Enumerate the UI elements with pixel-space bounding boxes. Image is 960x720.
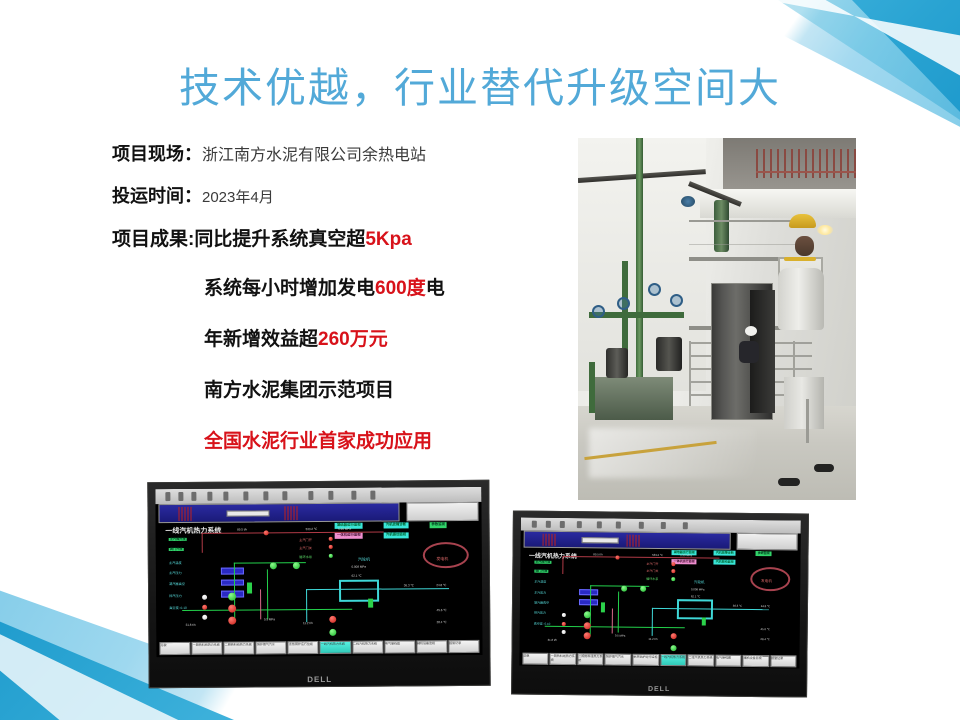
- hmi2-device-generator: 发电机: [761, 579, 772, 584]
- hmi-reading-5: 36.3 ℃: [404, 583, 414, 587]
- hmi2-input-box-2[interactable]: [579, 600, 599, 606]
- hmi2-reading-7: 0.5 MPa: [615, 634, 625, 638]
- hmi2-toolbar-icon-save[interactable]: [560, 521, 565, 529]
- hmi-reading-11: 28.4 ℃: [437, 620, 447, 624]
- hmi-toolbar-icon-save[interactable]: [191, 492, 196, 500]
- hmi-legend-1: 主汽门关: [299, 545, 312, 550]
- highlight-vacuum-value: 5Kpa: [365, 229, 411, 250]
- photo-worker-squatting-helmet: [745, 326, 757, 336]
- hmi-left-label-0: 主汽阀开度: [169, 538, 187, 541]
- hmi-input-box-1[interactable]: [221, 567, 244, 574]
- hmi2-device-turbine: 汽轮机: [694, 580, 705, 585]
- hmi-tab-9[interactable]: 报警记录: [448, 640, 479, 654]
- hmi2-valve-open-1[interactable]: [562, 613, 566, 617]
- hmi2-tab-3[interactable]: 锅炉烟气汽水: [605, 653, 632, 665]
- hmi2-pipe-steam-main: [562, 556, 719, 559]
- hmi2-level-bar-2: [702, 617, 706, 625]
- text-row-annual-benefit: 年新增效益超260万元: [204, 324, 582, 351]
- hmi2-toolbar-icon-back-arrow[interactable]: [616, 521, 621, 529]
- hmi2-legend-dot-green-1: [671, 577, 675, 581]
- hmi-addressbar-2[interactable]: [523, 531, 730, 549]
- hmi-toolbar-icon-settings[interactable]: [371, 491, 376, 499]
- hmi-left-label-2: 主汽温度: [169, 560, 182, 565]
- hmi-legend-2: 循环水泵: [299, 554, 312, 559]
- photo-handwheel-4: [670, 294, 683, 307]
- hmi2-left-label-3: 主汽压力: [534, 590, 546, 594]
- photo-worker-standing-head: [795, 236, 814, 256]
- hmi-toolbar-icon-copy[interactable]: [224, 492, 229, 500]
- hmi-status-tag-1[interactable]: 汽机故障诊断: [384, 523, 408, 529]
- value-first-application: 全国水泥行业首家成功应用: [204, 431, 432, 452]
- hmi-tab-0[interactable]: 总貌: [160, 642, 191, 656]
- hmi-canvas-1: 一线汽机热力系统 凝结器运行监视 汽机故障诊断 参数监视 一体机运行监视 汽机振…: [155, 487, 482, 657]
- hmi2-reading-3: 0.008 MPa: [691, 587, 705, 591]
- hmi-toolbar-icon-home[interactable]: [351, 491, 356, 499]
- plant-site-photo: [578, 138, 856, 500]
- hmi2-reading-11: 28.4 ℃: [760, 637, 769, 641]
- photo-handwheel-3: [648, 283, 661, 296]
- photo-worker-shoe-right: [814, 464, 834, 472]
- hmi-legend-0: 主汽门开: [299, 537, 312, 542]
- hmi2-pump-stopped-3[interactable]: [671, 633, 677, 639]
- text-row-power-gain: 系统每小时增加发电600度电: [204, 273, 582, 300]
- hmi-status-tag-3[interactable]: 一体机运行监视: [335, 533, 363, 539]
- hmi-tabbar-1[interactable]: 总貌 一期熟料线热力系统 二期熟料线热力系统 锅炉烟气汽水 余热锅炉运行监视 一…: [160, 640, 480, 656]
- text-row-commission-date: 投运时间：2023年4月: [112, 182, 582, 208]
- hmi-left-label-3: 主汽压力: [169, 570, 182, 575]
- value-power-gain: 系统每小时增加发电: [204, 278, 375, 299]
- hmi-pump-stopped-3[interactable]: [329, 616, 336, 623]
- text-row-results-vacuum: 项目成果:同比提升系统真空超5Kpa: [112, 224, 582, 251]
- hmi2-indicator-green-2[interactable]: [641, 585, 647, 591]
- hmi2-pipe-cooling-drop: [651, 608, 652, 636]
- hmi2-legend-0: 主汽门开: [646, 562, 658, 566]
- hmi-tab-2[interactable]: 二期熟料线热力系统: [224, 641, 255, 655]
- photo-worker-standing-torso: [778, 268, 824, 330]
- label-project-site: 项目现场：: [112, 144, 202, 164]
- scada-monitor-photo-2: 一线汽机热力系统 凝结器运行监视 汽机故障诊断 参数监视 一体机运行监视 汽机振…: [511, 510, 809, 697]
- hmi-clock-panel-1: [406, 502, 478, 521]
- hmi-pump-stopped-2[interactable]: [228, 616, 236, 624]
- hmi-address-input-1[interactable]: [227, 510, 270, 517]
- hmi2-tab-4[interactable]: 余热锅炉运行监视: [632, 653, 659, 665]
- hmi2-tab-0[interactable]: 总貌: [522, 652, 549, 664]
- hmi-toolbar-icon-paste[interactable]: [243, 492, 248, 500]
- hmi-reading-10: 45.6 ℃: [437, 608, 447, 612]
- hmi2-level-bar-1: [601, 603, 605, 613]
- hmi-clock-panel-2: [736, 533, 798, 550]
- value-annual-benefit: 年新增效益超: [204, 329, 318, 350]
- hmi-address-input-2[interactable]: [582, 537, 619, 543]
- hmi2-left-label-1: 调门开度: [534, 569, 548, 572]
- hmi-legend-dot-red-2: [328, 545, 332, 549]
- photo-worker-squatting-body: [739, 341, 759, 363]
- hmi-valve-main-steam[interactable]: [263, 530, 268, 535]
- hmi-toolbar-icon-print[interactable]: [208, 492, 213, 500]
- hmi-legend-dot-red-1: [328, 537, 332, 541]
- hmi2-tab-5[interactable]: 一线汽机热力系统: [660, 654, 687, 666]
- hmi-tab-6[interactable]: 二线汽机热力系统: [352, 640, 383, 654]
- hmi-pipe-feed: [267, 569, 268, 619]
- hmi-marquee-alarm-left: [179, 507, 193, 520]
- hmi-valve-open-1[interactable]: [202, 595, 207, 600]
- text-row-first-application: 全国水泥行业首家成功应用: [204, 426, 582, 453]
- hmi-pump-running-2[interactable]: [329, 629, 336, 636]
- hmi2-marquee-alarm-right: [627, 535, 639, 547]
- photo-upper-railing: [756, 149, 856, 178]
- hmi-reading-1: 533.2 ℃: [306, 527, 318, 531]
- hmi-tab-8[interactable]: 辅机设备监视: [416, 640, 447, 654]
- hmi2-status-tag-1[interactable]: 汽机故障诊断: [714, 551, 736, 556]
- hmi-pipe-drain: [260, 589, 261, 619]
- hmi2-reading-1: 533.2 ℃: [652, 553, 663, 557]
- hmi-reading-6: 24.8 ℃: [436, 583, 446, 587]
- hmi2-valve-open-2[interactable]: [562, 630, 566, 634]
- hmi2-toolbar-icon-forward-arrow[interactable]: [638, 522, 643, 530]
- photo-valve-upper: [681, 196, 695, 207]
- hmi2-reading-9: 31.8 t/h: [548, 638, 557, 642]
- hmi-level-bar-1: [247, 583, 252, 594]
- monitor-2-screen: 一线汽机热力系统 凝结器运行监视 汽机故障诊断 参数监视 一体机运行监视 汽机振…: [519, 518, 801, 669]
- hmi-device-generator: 发电机: [436, 556, 448, 562]
- hmi-tab-4[interactable]: 余热锅炉运行监视: [288, 641, 319, 655]
- value-results-vacuum: 同比提升系统真空超: [194, 229, 365, 250]
- hmi2-pipe-cond-riser: [590, 585, 592, 637]
- hmi-toolbar-icon-back-arrow[interactable]: [263, 492, 268, 500]
- photo-pump-b: [656, 337, 682, 371]
- photo-worker-standing-legs: [784, 377, 824, 429]
- hmi2-toolbar-icon-open[interactable]: [546, 521, 551, 529]
- hmi-indicator-green-2[interactable]: [293, 562, 300, 569]
- hmi-reading-7: 0.5 MPa: [264, 618, 275, 622]
- hmi-toolbar-icon-open[interactable]: [178, 492, 183, 500]
- value-demo-project: 南方水泥集团示范项目: [204, 380, 394, 401]
- hmi2-pump-stopped-2[interactable]: [584, 632, 591, 639]
- hmi-toolbar-icon-stop[interactable]: [309, 491, 314, 499]
- hmi2-toolbar-icon-copy[interactable]: [596, 521, 601, 529]
- hmi-reading-8: 11.2 t/h: [303, 621, 313, 625]
- hmi2-pipe-steam-branch: [562, 556, 563, 574]
- hmi2-toolbar-icon-new[interactable]: [532, 521, 537, 529]
- hmi2-legend-dot-red-2: [672, 569, 676, 573]
- hmi-status-tag-2[interactable]: 参数监视: [429, 522, 447, 528]
- hmi-valve-open-2[interactable]: [202, 615, 207, 620]
- hmi-reading-3: 0.008 MPa: [351, 565, 366, 569]
- hmi-level-bar-2: [368, 598, 373, 607]
- hmi2-left-label-5: 排汽压力: [534, 611, 546, 615]
- photo-ceiling-lamp: [817, 225, 833, 235]
- hmi-tab-1[interactable]: 一期熟料线热力系统: [192, 642, 223, 656]
- hmi-reading-4: 62.1 ℃: [352, 573, 362, 577]
- hmi-addressbar-1[interactable]: [159, 503, 400, 523]
- hmi-marquee-alarm-right: [284, 507, 298, 520]
- hmi2-toolbar-icon-refresh[interactable]: [661, 522, 666, 530]
- hmi-left-label-1: 调门开度: [169, 548, 184, 551]
- monitor-1-screen: 一线汽机热力系统 凝结器运行监视 汽机故障诊断 参数监视 一体机运行监视 汽机振…: [155, 487, 482, 657]
- hmi2-valve-main-steam[interactable]: [616, 556, 620, 560]
- hmi-tab-3[interactable]: 锅炉烟气汽水: [256, 641, 287, 655]
- photo-pump-a: [606, 348, 628, 378]
- text-row-project-site: 项目现场：浙江南方水泥有限公司余热电站: [112, 140, 582, 166]
- hmi-screen-title-1: 一线汽机热力系统: [165, 526, 221, 536]
- highlight-benefit-value: 260万元: [318, 329, 388, 350]
- photo-pump-skid: [595, 377, 673, 420]
- hmi-tabbar-2[interactable]: 总貌 一期熟料线热力系统 二期熟料线热力系统 锅炉烟气汽水 余热锅炉运行监视 一…: [522, 652, 796, 667]
- hmi2-tab-6[interactable]: 二线汽机热力系统: [687, 654, 714, 666]
- photo-handwheel-1: [592, 305, 605, 318]
- hmi2-reading-8: 11.2 t/h: [648, 637, 657, 641]
- hmi2-reading-5: 36.3 ℃: [733, 604, 742, 608]
- hmi2-marquee-alarm-left: [543, 534, 555, 546]
- hmi2-pump-running-2[interactable]: [671, 645, 677, 651]
- hmi2-tab-8[interactable]: 辅机设备监视: [743, 655, 770, 667]
- hmi-device-turbine: 汽轮机: [358, 557, 370, 563]
- hmi2-left-label-4: 凝汽器真空: [534, 601, 549, 605]
- hmi-pump-running-1[interactable]: [228, 593, 236, 601]
- hmi2-toolbar-icon-home[interactable]: [683, 522, 688, 530]
- hmi-reading-9: 31.8 t/h: [186, 623, 196, 627]
- scada-monitor-photo-1: 一线汽机热力系统 凝结器运行监视 汽机故障诊断 参数监视 一体机运行监视 汽机振…: [147, 480, 490, 688]
- hmi2-toolbar-icon-print[interactable]: [577, 521, 582, 529]
- photo-upper-railing-bar: [756, 171, 856, 173]
- hmi-pump-stopped-1[interactable]: [228, 604, 236, 612]
- photo-worker-standing-leg-split: [806, 399, 809, 443]
- hmi2-legend-2: 循环水泵: [646, 577, 658, 581]
- value-project-site: 浙江南方水泥有限公司余热电站: [202, 147, 426, 164]
- hmi-reading-0: 89.5 t/h: [237, 527, 247, 531]
- hmi2-reading-10: 45.6 ℃: [761, 627, 770, 631]
- hmi-tab-5[interactable]: 一线汽机热力系统: [320, 641, 351, 655]
- hmi2-valve-closed-1[interactable]: [562, 622, 566, 626]
- hmi2-left-label-2: 主汽温度: [534, 580, 546, 584]
- hmi-toolbar-icon-refresh[interactable]: [328, 491, 333, 499]
- hmi2-tab-9[interactable]: 报警记录: [770, 655, 797, 667]
- hmi2-reading-4: 62.1 ℃: [691, 595, 700, 599]
- hmi2-tab-7[interactable]: 电气接线图: [715, 654, 742, 666]
- hmi2-reading-6: 24.8 ℃: [761, 604, 770, 608]
- hmi2-left-label-0: 主汽阀开度: [534, 561, 551, 564]
- photo-worker-hardhat-brim: [784, 257, 816, 261]
- text-row-demo-project: 南方水泥集团示范项目: [204, 375, 582, 402]
- highlight-power-value: 600度: [375, 278, 426, 299]
- hmi-screen-title-2: 一线汽机热力系统: [529, 550, 577, 560]
- label-commission-date: 投运时间：: [112, 186, 202, 206]
- hmi2-reading-0: 89.5 t/h: [593, 552, 602, 556]
- slide-root: 技术优越，行业替代升级空间大 项目现场：浙江南方水泥有限公司余热电站 投运时间：…: [0, 0, 960, 720]
- label-results: 项目成果:: [112, 229, 194, 250]
- hmi2-legend-1: 主汽门关: [646, 569, 658, 573]
- hmi-toolbar-icon-new[interactable]: [165, 492, 170, 500]
- hmi-toolbar-icon-forward-arrow[interactable]: [282, 492, 287, 500]
- hmi2-pipe-drain: [612, 609, 613, 634]
- hmi-legend-dot-green-1: [329, 553, 333, 557]
- hmi2-legend-dot-red-1: [672, 562, 676, 566]
- hmi-left-label-5: 排汽压力: [169, 593, 182, 598]
- photo-worker-shoe-left: [778, 478, 800, 486]
- hmi2-status-tag-4[interactable]: 汽机振动监视: [714, 560, 736, 565]
- hmi-pipe-cooling-drop: [306, 589, 307, 623]
- hmi-valve-closed-1[interactable]: [202, 605, 207, 610]
- hmi2-reading-2: 5.90 MPa: [680, 553, 692, 557]
- hmi2-indicator-green-1[interactable]: [621, 585, 627, 591]
- hmi-pipe-steam-branch: [201, 532, 202, 552]
- hmi2-pipe-cond-main: [545, 626, 685, 628]
- hmi-indicator-green-1[interactable]: [270, 562, 277, 569]
- photo-worker-hardhat-yellow: [789, 214, 816, 228]
- value-power-gain-tail: 电: [426, 278, 445, 299]
- page-title: 技术优越，行业替代升级空间大: [0, 66, 960, 111]
- hmi2-input-box-1[interactable]: [579, 589, 599, 595]
- hmi-status-tag-4[interactable]: 汽机振动监视: [384, 533, 408, 539]
- hmi2-tab-1[interactable]: 一期熟料线热力系统: [550, 653, 577, 665]
- hmi-canvas-2: 一线汽机热力系统 凝结器运行监视 汽机故障诊断 参数监视 一体机运行监视 汽机振…: [519, 518, 801, 669]
- hmi-input-box-2[interactable]: [221, 579, 244, 586]
- hmi-left-label-4: 凝汽器真空: [169, 581, 185, 586]
- hmi2-status-tag-2[interactable]: 参数监视: [756, 551, 772, 556]
- hmi-tab-7[interactable]: 电气接线图: [384, 640, 415, 654]
- content-text-block: 项目现场：浙江南方水泥有限公司余热电站 投运时间：2023年4月 项目成果:同比…: [112, 140, 582, 453]
- hmi2-tab-2[interactable]: 二期熟料线热力系统: [577, 653, 604, 665]
- value-commission-date: 2023年4月: [202, 189, 274, 206]
- hmi2-left-label-6: 真空度: 0.10: [534, 621, 551, 625]
- hmi-reading-2: 5.90 MPa: [338, 526, 351, 530]
